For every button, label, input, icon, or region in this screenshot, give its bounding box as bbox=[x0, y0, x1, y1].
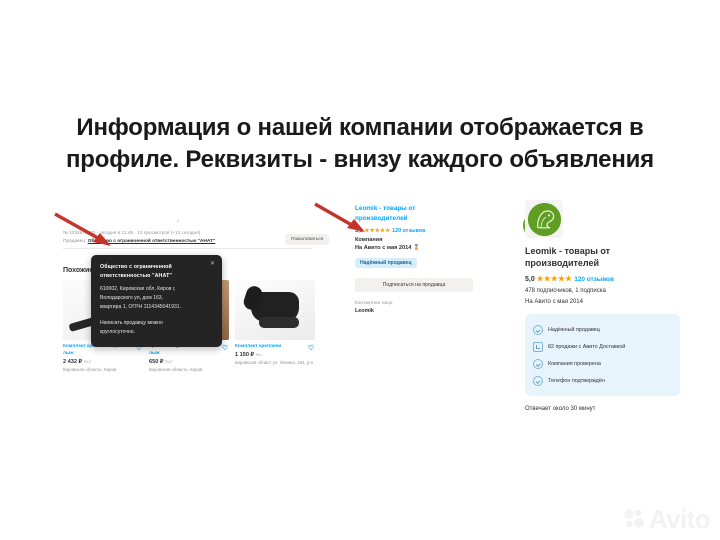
tooltip-address-line1: 610002, Кировская обл, Киров г, bbox=[100, 285, 213, 294]
seller-since: На Авито с мая 2014 🏅 bbox=[355, 245, 515, 251]
product-image[interactable] bbox=[235, 280, 315, 340]
seller-since-label: На Авито с мая 2014 bbox=[355, 245, 411, 251]
reviews-link[interactable]: 120 отзывов bbox=[392, 228, 425, 234]
tooltip-note: Написать продавцу можно круглосуточно. bbox=[100, 319, 213, 337]
tooltip-note-line2: круглосуточно. bbox=[100, 328, 213, 337]
rating-value: 5,0 bbox=[525, 276, 535, 283]
listing-seller-line: Продавец: Общество с ограниченной ответс… bbox=[63, 239, 215, 244]
list-item[interactable]: Комплект креплени ♡ 1 150 ₽ 9ш Кировская… bbox=[235, 280, 315, 374]
check-circle-icon bbox=[533, 376, 543, 386]
product-location: Кировская область, Киров bbox=[149, 367, 229, 373]
favorite-heart-icon[interactable]: ♡ bbox=[222, 345, 228, 352]
contact-person-name: Leomik bbox=[355, 308, 515, 314]
check-circle-icon bbox=[533, 359, 543, 369]
product-price: 1 150 ₽ 9ш bbox=[235, 352, 315, 358]
seller-prefix-label: Продавец: bbox=[63, 239, 88, 244]
profile-since: На Авито с мая 2014 bbox=[525, 299, 695, 305]
seller-info-panel: Leomik - товары от производителей 5,0 ★★… bbox=[355, 204, 515, 314]
report-button[interactable]: Пожаловаться bbox=[285, 234, 329, 245]
screenshot-collage: • № 1234873402 · сегодня в 11:45 · 12 пр… bbox=[55, 200, 695, 415]
avito-logo-icon bbox=[624, 508, 646, 530]
section-divider bbox=[63, 248, 311, 249]
list-item: Надёжный продавец bbox=[533, 321, 672, 338]
list-item: Компания проверена bbox=[533, 355, 672, 372]
profile-subscribers: 478 подписчиков, 1 подписка bbox=[525, 288, 695, 294]
price-count: 9ш bbox=[256, 352, 262, 357]
leomik-logo-icon bbox=[528, 203, 561, 236]
reviews-link[interactable]: 120 отзывов bbox=[574, 276, 614, 283]
badge-label: Надёжный продавец bbox=[548, 327, 600, 333]
profile-card-panel: Leomik - товары от производителей 5,0 ★★… bbox=[525, 200, 695, 412]
product-title[interactable]: Комплект креплени ♡ bbox=[235, 343, 315, 350]
page-title-line2: профиле. Реквизиты - внизу каждого объяв… bbox=[26, 144, 694, 176]
favorite-heart-icon[interactable]: ♡ bbox=[308, 345, 314, 352]
tooltip-address: 610002, Кировская обл, Киров г, Володарс… bbox=[100, 285, 213, 312]
price-count: 9шт bbox=[84, 359, 92, 364]
tooltip-address-line2: Володарского ул, дом 163, bbox=[100, 294, 213, 303]
seller-type: Компания bbox=[355, 237, 515, 243]
seller-name-link[interactable]: Leomik - товары от производителей bbox=[355, 204, 447, 224]
star-rating-icon: ★★★★★ bbox=[364, 228, 390, 234]
delivery-box-icon bbox=[533, 342, 543, 352]
subscribe-button[interactable]: Подписаться на продавца bbox=[355, 278, 473, 292]
badge-label: Телефон подтверждён bbox=[548, 378, 605, 384]
star-rating-icon: ★★★★★ bbox=[537, 274, 573, 283]
medal-icon: 🏅 bbox=[413, 245, 420, 251]
status-badge: Надёжный продавец bbox=[355, 258, 417, 268]
product-location: Кировская област ул. Ленина, 164, р-н bbox=[235, 360, 315, 366]
image-dots-indicator: • bbox=[177, 219, 179, 225]
product-location: Кировская область, Киров bbox=[63, 367, 143, 373]
profile-name: Leomik - товары от производителей bbox=[525, 245, 645, 269]
contact-person-label: Контактное лицо bbox=[355, 301, 515, 306]
tooltip-title: Общество с ограниченной ответственностью… bbox=[100, 263, 213, 281]
price-count: 9шт bbox=[165, 359, 173, 364]
profile-logo bbox=[525, 200, 563, 238]
tooltip-note-line1: Написать продавцу можно bbox=[100, 319, 213, 328]
listing-panel: • № 1234873402 · сегодня в 11:45 · 12 пр… bbox=[55, 200, 317, 415]
reply-time-label: Отвечает около 30 минут bbox=[525, 406, 695, 412]
watermark-text: Avito bbox=[649, 506, 710, 532]
avito-watermark: Avito bbox=[624, 506, 710, 532]
product-price: 650 ₽ 9шт bbox=[149, 359, 229, 365]
rating-value: 5,0 bbox=[355, 228, 363, 234]
listing-meta: № 1234873402 · сегодня в 11:45 · 12 прос… bbox=[63, 230, 200, 235]
check-circle-icon bbox=[533, 325, 543, 335]
price-value: 650 ₽ bbox=[149, 359, 163, 365]
tooltip-address-line3: квартира 1, ОГРН 1114345041931. bbox=[100, 303, 213, 312]
seller-rating: 5,0 ★★★★★ 120 отзывов bbox=[355, 228, 515, 234]
badge-label: Компания проверена bbox=[548, 361, 601, 367]
page-title-line1: Информация о нашей компании отображается… bbox=[76, 114, 643, 141]
company-details-tooltip: ✕ Общество с ограниченной ответственност… bbox=[91, 255, 222, 347]
list-item: 82 продажи с Авито Доставкой bbox=[533, 338, 672, 355]
price-value: 1 150 ₽ bbox=[235, 352, 254, 358]
product-price: 2 432 ₽ 9шт bbox=[63, 359, 143, 365]
list-item: Телефон подтверждён bbox=[533, 372, 672, 389]
close-icon[interactable]: ✕ bbox=[210, 261, 215, 267]
profile-rating: 5,0 ★★★★★ 120 отзывов bbox=[525, 274, 695, 283]
seller-company-link[interactable]: Общество с ограниченной ответственностью… bbox=[88, 239, 216, 244]
price-value: 2 432 ₽ bbox=[63, 359, 82, 365]
badge-label: 82 продажи с Авито Доставкой bbox=[548, 344, 625, 350]
profile-badges-list: Надёжный продавец 82 продажи с Авито Дос… bbox=[525, 314, 680, 396]
page-title: Информация о нашей компании отображается… bbox=[0, 112, 720, 175]
